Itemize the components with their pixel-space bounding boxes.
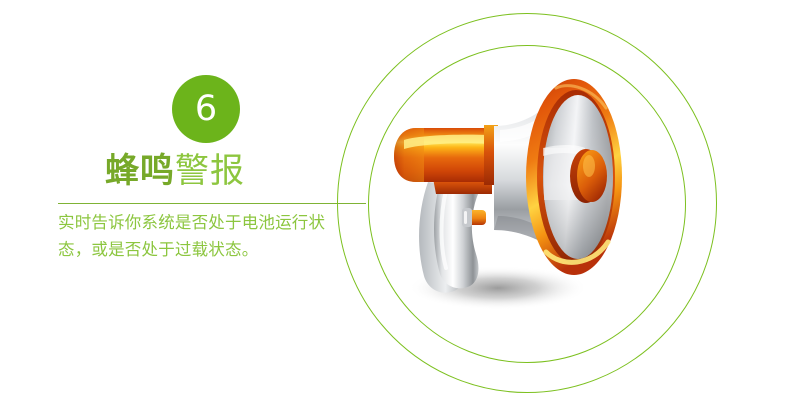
megaphone-trigger — [462, 208, 486, 227]
megaphone-back-cap — [394, 125, 498, 194]
page-title-strong: 蜂鸣 — [105, 151, 175, 191]
feature-card: 6 蜂鸣警报 实时告诉你系统是否处于电池运行状态，或是否处于过载状态。 — [0, 0, 790, 413]
description-text: 实时告诉你系统是否处于电池运行状态，或是否处于过载状态。 — [58, 210, 358, 263]
step-number-label: 6 — [195, 92, 217, 127]
text-panel: 6 蜂鸣警报 实时告诉你系统是否处于电池运行状态，或是否处于过载状态。 — [0, 0, 370, 413]
page-title: 蜂鸣警报 — [0, 152, 350, 190]
page-title-light: 警报 — [175, 151, 245, 191]
megaphone-handle — [419, 182, 486, 293]
megaphone-center-knob — [570, 149, 607, 203]
title-divider — [58, 203, 366, 204]
megaphone-icon — [380, 70, 660, 330]
step-number-badge: 6 — [172, 75, 240, 143]
